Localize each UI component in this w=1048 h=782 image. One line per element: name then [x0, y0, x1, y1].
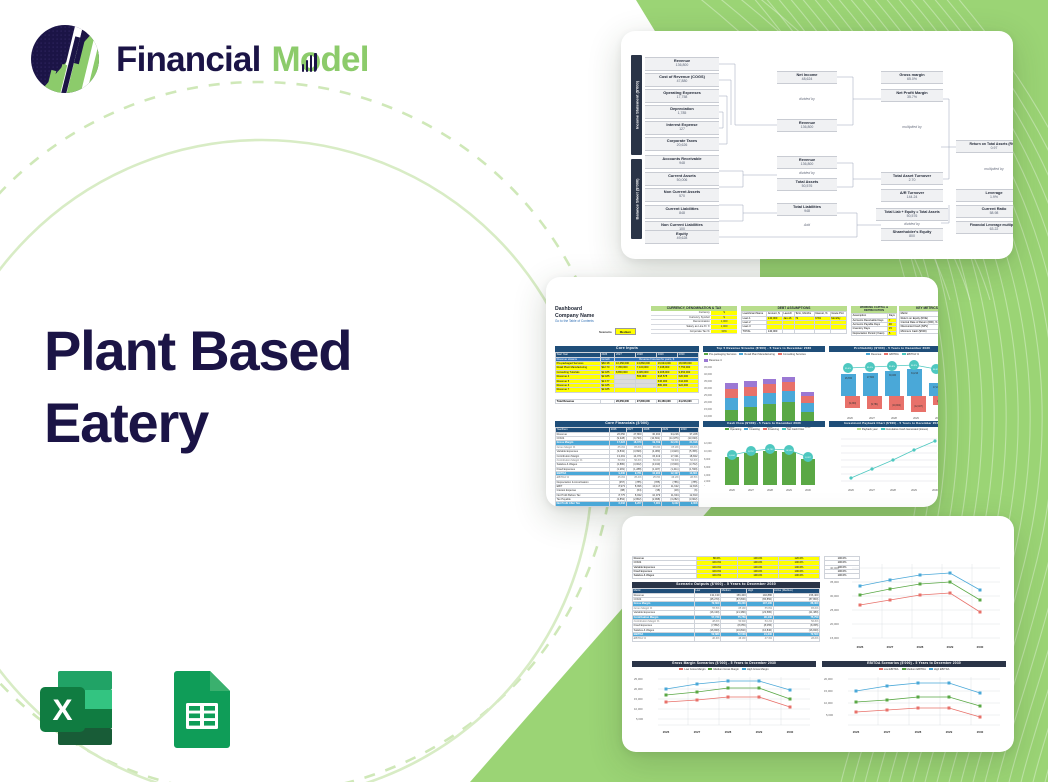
- svg-text:5,000: 5,000: [826, 713, 833, 717]
- svg-text:8,037: 8,037: [805, 457, 811, 459]
- core-financials-table: Year/Item20262027202820292030Revenue26,6…: [555, 427, 699, 507]
- flow-operator: divided by: [777, 97, 837, 101]
- flow-box: Non Current Assets570: [645, 188, 719, 202]
- svg-text:2030: 2030: [935, 416, 938, 420]
- svg-text:2026: 2026: [857, 645, 864, 649]
- svg-text:27,800: 27,800: [867, 377, 875, 379]
- microsoft-excel-icon[interactable]: X: [30, 663, 120, 753]
- svg-text:35,000: 35,000: [704, 379, 712, 383]
- flow-operator: divided by: [881, 222, 943, 226]
- flow-box: A/R Turnover144.24: [881, 189, 943, 202]
- flow-box: Accounts Receivable948: [645, 155, 719, 169]
- dashboard-toc-link[interactable]: Go to the Table of Contents: [555, 319, 645, 323]
- flow-box: Equity49,628: [645, 230, 719, 244]
- svg-text:X: X: [52, 694, 72, 727]
- svg-text:2026: 2026: [847, 416, 853, 420]
- flow-box: Operating Expenses17,758: [645, 89, 719, 103]
- svg-text:2028: 2028: [890, 488, 896, 492]
- dupont-flowchart-screenshot[interactable]: Income Statement ($'000) Balance Sheet (…: [621, 31, 1013, 259]
- google-sheets-icon[interactable]: [156, 663, 246, 753]
- svg-text:2027: 2027: [869, 488, 875, 492]
- debt-table: Loan/Grant NameAmount, $ LaunchTerm, Mon…: [741, 311, 847, 334]
- svg-text:2029: 2029: [786, 488, 792, 492]
- svg-text:2030: 2030: [977, 645, 984, 649]
- revenue-streams-chart: Top 5 Revenue Streams ($'000) - 5 Years …: [703, 346, 825, 429]
- svg-text:2027: 2027: [869, 416, 875, 420]
- svg-text:36.3%: 36.3%: [911, 365, 917, 367]
- svg-text:35.0%: 35.0%: [845, 368, 851, 370]
- table-row: [556, 392, 699, 399]
- svg-text:2027: 2027: [694, 730, 701, 734]
- chart-legend: Low Gross Margin Medium Gross Margin Hig…: [632, 668, 816, 671]
- cash-flow-chart: Cash Flow ($'000) - 5 Years to December …: [703, 421, 825, 493]
- svg-text:2026: 2026: [729, 488, 735, 492]
- svg-text:17,228: 17,228: [933, 387, 938, 389]
- svg-text:-: -: [704, 484, 705, 487]
- table-row: Minimum Cash ($'000)1,2352: [900, 329, 939, 333]
- svg-text:10,000: 10,000: [824, 701, 833, 705]
- flow-box: Revenue136,800: [777, 119, 837, 132]
- investment-payback-chart: Investment Payback Chart ($'000) - 5 Yea…: [829, 421, 938, 493]
- core-financials-panel: Core Financials ($'000) Year/Item2026202…: [555, 421, 699, 507]
- svg-text:12,000: 12,000: [704, 442, 712, 445]
- scenario-select[interactable]: Medium: [615, 328, 636, 335]
- svg-text:4,000: 4,000: [704, 474, 711, 477]
- key-metrics-panel: KEY METRICS MetricValue Return on Equity…: [899, 306, 938, 334]
- flow-box: Revenue136,800: [645, 57, 719, 71]
- svg-text:6,000: 6,000: [704, 466, 711, 469]
- flow-box: Revenue136,800: [777, 156, 837, 169]
- scenario-assumptions: Revenue80.0%100.0%120.0%COGS100.0%100.0%…: [632, 556, 820, 579]
- svg-text:35.8%: 35.8%: [889, 366, 895, 368]
- chart-legend: Pre-packaging Services Retail Plant Manu…: [704, 353, 825, 363]
- svg-text:2028: 2028: [725, 730, 732, 734]
- scenario-analysis-screenshot[interactable]: Revenue80.0%100.0%120.0%COGS100.0%100.0%…: [622, 516, 1014, 752]
- flow-box: Depreciation1,785: [645, 105, 719, 119]
- working-capital-table: AssumptionDays Accounts Receivable Days7…: [851, 313, 897, 336]
- svg-text:2029: 2029: [946, 730, 953, 734]
- brand-word-financial: Financial: [116, 42, 261, 77]
- flow-operator: multiplied by: [956, 167, 1013, 171]
- svg-text:20,000: 20,000: [634, 687, 643, 691]
- payback-plot: 70,00060,00050,000 40,00030,00020,000 10…: [829, 431, 938, 493]
- svg-text:(9,781): (9,781): [871, 404, 879, 406]
- flow-box: Net Income48,624: [777, 71, 837, 84]
- flow-box: Current Liabilities848: [645, 205, 719, 219]
- svg-text:5,000: 5,000: [636, 717, 643, 721]
- flow-box: Total Asset Turnover2.70: [881, 172, 943, 185]
- svg-text:2028: 2028: [917, 645, 924, 649]
- svg-text:2029: 2029: [913, 416, 919, 420]
- left-content-panel: Financial Model Plant Based Eatery X: [0, 0, 470, 782]
- table-total-row: Total Revenue 26,650,00027,800,000 30,46…: [556, 399, 699, 403]
- table-row: Salaries & Wages100.0%100.0%100.0%: [633, 574, 820, 578]
- svg-text:15,000: 15,000: [704, 407, 712, 411]
- svg-text:25,000: 25,000: [830, 608, 839, 612]
- revenue-scenarios-chart: 40,00035,00030,000 25,00020,00015,000 20…: [828, 558, 1006, 654]
- svg-text:36.5%: 36.5%: [933, 369, 938, 371]
- svg-text:45,000: 45,000: [704, 365, 712, 369]
- gross-margin-plot: 25,00020,00015,000 10,0005,000 202620272…: [632, 673, 816, 737]
- title-line-2: Eatery: [44, 387, 444, 459]
- svg-text:15,000: 15,000: [634, 697, 643, 701]
- svg-text:8,000: 8,000: [704, 458, 711, 461]
- table-row: Depreciation Period (Years)5: [852, 331, 897, 335]
- revenue-scenarios-plot: 40,00035,00030,000 25,00020,00015,000 20…: [828, 558, 1006, 654]
- debt-panel: DEBT ASSUMPTIONS Loan/Grant NameAmount, …: [741, 306, 847, 334]
- svg-text:34,216: 34,216: [911, 373, 919, 375]
- svg-text:2030: 2030: [787, 730, 794, 734]
- chart-legend: Low EBITDA Medium EBITDA High EBITDA: [822, 668, 1006, 671]
- core-inputs-table: Start Year2026 20272028 20292030 Revenue…: [555, 352, 699, 404]
- flow-box: Total Assets50,576: [777, 178, 837, 191]
- svg-text:(12,407): (12,407): [914, 406, 923, 408]
- flow-box: Financial Leverage multiplier63.22: [956, 221, 1013, 234]
- flow-box: Shareholder's Equity800: [881, 228, 943, 241]
- file-format-icons: X: [30, 663, 246, 753]
- logo-mark-icon: [28, 22, 102, 96]
- flow-operator: divided by: [777, 171, 837, 175]
- cash-flow-plot: 12,00010,0008,000 6,0004,0002,000-: [703, 431, 825, 493]
- svg-text:(6,601): (6,601): [937, 401, 938, 403]
- svg-text:10,546: 10,546: [786, 450, 793, 452]
- svg-text:10,000: 10,000: [704, 450, 712, 453]
- svg-text:40,000: 40,000: [704, 372, 712, 376]
- stacked-bar-plot: 45,00040,00035,000 30,00025,00020,000 15…: [703, 363, 825, 429]
- table-row: TOTAL140,000: [742, 329, 847, 333]
- svg-text:30,000: 30,000: [704, 386, 712, 390]
- flow-box: Net Profit Margin35.7%: [881, 89, 943, 102]
- svg-text:35,000: 35,000: [830, 580, 839, 584]
- title-line-1: Plant Based: [44, 315, 444, 387]
- svg-text:2030: 2030: [805, 488, 811, 492]
- brand-logo[interactable]: Financial Model: [28, 22, 369, 96]
- flow-operator: Add: [777, 223, 837, 227]
- flow-box: Current Ratio58.98: [956, 205, 1013, 218]
- svg-text:2026: 2026: [663, 730, 670, 734]
- flow-box: Total Liabilities948: [777, 203, 837, 216]
- svg-text:2026: 2026: [848, 488, 854, 492]
- svg-text:30,000: 30,000: [830, 594, 839, 598]
- profitability-plot: 35.0%35.2%35.8% 36.3%36.5% 26,65027,8003…: [829, 356, 938, 422]
- flow-box: Interest Expense127: [645, 121, 719, 135]
- svg-text:2030: 2030: [932, 488, 938, 492]
- svg-text:15,000: 15,000: [824, 689, 833, 693]
- svg-text:2026: 2026: [853, 730, 860, 734]
- svg-text:10,000: 10,000: [704, 414, 712, 418]
- brand-wordmark: Financial Model: [116, 42, 369, 77]
- svg-text:2028: 2028: [915, 730, 922, 734]
- svg-text:2029: 2029: [756, 730, 763, 734]
- gross-margin-scenarios-chart: Gross Margin Scenarios ($'000) - 5 Years…: [632, 661, 816, 737]
- income-statement-sidebar: Income Statement ($'000): [631, 55, 642, 155]
- ebitda-plot: 20,00015,00010,0005,000 202620272028 202…: [822, 673, 1006, 737]
- svg-text:8,752: 8,752: [748, 451, 754, 453]
- svg-text:(9,330): (9,330): [849, 403, 857, 405]
- working-capital-panel: WORKING CAPITAL & DEPRECIATION Assumptio…: [851, 306, 897, 336]
- svg-text:2027: 2027: [887, 645, 894, 649]
- svg-text:30,460: 30,460: [889, 375, 897, 377]
- svg-text:25,000: 25,000: [634, 677, 643, 681]
- svg-text:2,000: 2,000: [704, 480, 711, 483]
- table-row: Net Profit After Tax %24.5%23.4%24.7%24.…: [556, 506, 699, 507]
- svg-text:10,752: 10,752: [767, 449, 774, 451]
- dashboard-screenshot[interactable]: Dashboard Company Name Go to the Table o…: [546, 277, 938, 507]
- scenario-label: Scenario: [599, 330, 612, 334]
- svg-text:2029: 2029: [947, 645, 954, 649]
- svg-text:25,000: 25,000: [704, 393, 712, 397]
- svg-text:20,000: 20,000: [704, 400, 712, 404]
- scenario-outputs-panel: Scenario Outputs ($'000) - 5 Years to De…: [632, 582, 820, 642]
- flow-box: Total Liab + Equity = Total Assets50,576: [876, 208, 948, 221]
- svg-text:40,000: 40,000: [830, 566, 839, 570]
- flow-box: Return on Total Assets (ROA)0.97: [956, 140, 1013, 153]
- svg-text:20,000: 20,000: [830, 622, 839, 626]
- flow-box: Gross margin65.0%: [881, 71, 943, 84]
- key-metrics-table: MetricValue Return on Equity (ROE)61.60 …: [899, 311, 938, 334]
- flow-box: Cost of Revenue (COGS)47,880: [645, 73, 719, 87]
- core-inputs-panel: Core Inputs Start Year2026 20272028 2029…: [555, 346, 699, 404]
- svg-text:10,000: 10,000: [634, 707, 643, 711]
- flow-box: Corporate Taxes20,626: [645, 137, 719, 151]
- table-row: EBITDA %40.3%46.0%47.3%46.0%: [633, 637, 820, 641]
- svg-text:26,650: 26,650: [845, 378, 853, 380]
- profitability-chart: Profitability ($'000) - 5 Years to Decem…: [829, 346, 938, 422]
- svg-text:2029: 2029: [911, 488, 917, 492]
- flow-operator: multiplied by: [881, 125, 943, 129]
- svg-text:(10,902): (10,902): [892, 405, 901, 407]
- svg-text:20,000: 20,000: [824, 677, 833, 681]
- brand-word-model: Model: [272, 42, 369, 77]
- svg-text:2030: 2030: [977, 730, 984, 734]
- svg-text:2028: 2028: [767, 488, 773, 492]
- svg-text:6,444: 6,444: [729, 455, 735, 457]
- svg-text:2027: 2027: [884, 730, 891, 734]
- flow-box: Current Assets50,006: [645, 172, 719, 186]
- currency-panel: CURRENCY, DENOMINATION & TAX Currency$ C…: [651, 306, 737, 334]
- currency-rows: Currency$ Currency Symbol$ Denomination1…: [651, 311, 737, 334]
- bar-chart-in-o-icon: [302, 53, 317, 72]
- svg-text:35.2%: 35.2%: [867, 367, 873, 369]
- svg-text:15,000: 15,000: [830, 636, 839, 640]
- svg-text:2027: 2027: [748, 488, 754, 492]
- balance-sheet-sidebar: Balance Sheet ($'000): [631, 159, 642, 239]
- svg-text:2028: 2028: [891, 416, 897, 420]
- flow-box: Leverage1.9%: [956, 189, 1013, 202]
- page-title: Plant Based Eatery: [44, 315, 444, 458]
- table-row: Accounts Receivable Days7: [852, 318, 897, 322]
- ebitda-scenarios-chart: EBITDA Scenarios ($'000) - 5 Years to De…: [822, 661, 1006, 737]
